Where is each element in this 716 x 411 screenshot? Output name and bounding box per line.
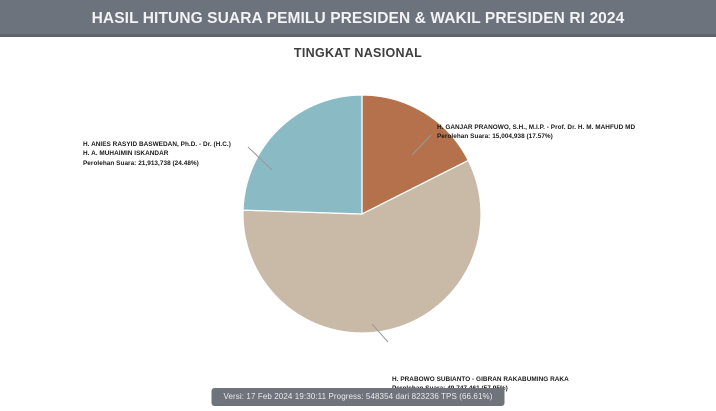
- status-badge: Versi: 17 Feb 2024 19:30:11 Progress: 54…: [211, 388, 504, 406]
- leader-lines: [0, 37, 716, 378]
- page-title: HASIL HITUNG SUARA PEMILU PRESIDEN & WAK…: [0, 0, 716, 37]
- slice-label-anies-votes: Perolehan Suara: 21,913,738 (24.48%): [83, 159, 231, 168]
- slice-label-anies-name1: H. ANIES RASYID BASWEDAN, Ph.D. - Dr. (H…: [83, 140, 231, 149]
- slice-label-ganjar-votes: Perolehan Suara: 15,004,938 (17.57%): [437, 132, 635, 141]
- slice-label-prabowo-name1: H. PRABOWO SUBIANTO - GIBRAN RAKABUMING …: [392, 375, 569, 384]
- pie-chart-canvas: H. ANIES RASYID BASWEDAN, Ph.D. - Dr. (H…: [0, 37, 716, 378]
- slice-label-anies-name2: H. A. MUHAIMIN ISKANDAR: [83, 149, 231, 158]
- slice-label-ganjar-mahfud: H. GANJAR PRANOWO, S.H., M.I.P. - Prof. …: [437, 123, 635, 142]
- app-header-bar: HASIL HITUNG SUARA PEMILU PRESIDEN & WAK…: [0, 0, 716, 37]
- slice-label-anies-muhaimin: H. ANIES RASYID BASWEDAN, Ph.D. - Dr. (H…: [83, 140, 231, 168]
- slice-label-ganjar-name1: H. GANJAR PRANOWO, S.H., M.I.P. - Prof. …: [437, 123, 635, 132]
